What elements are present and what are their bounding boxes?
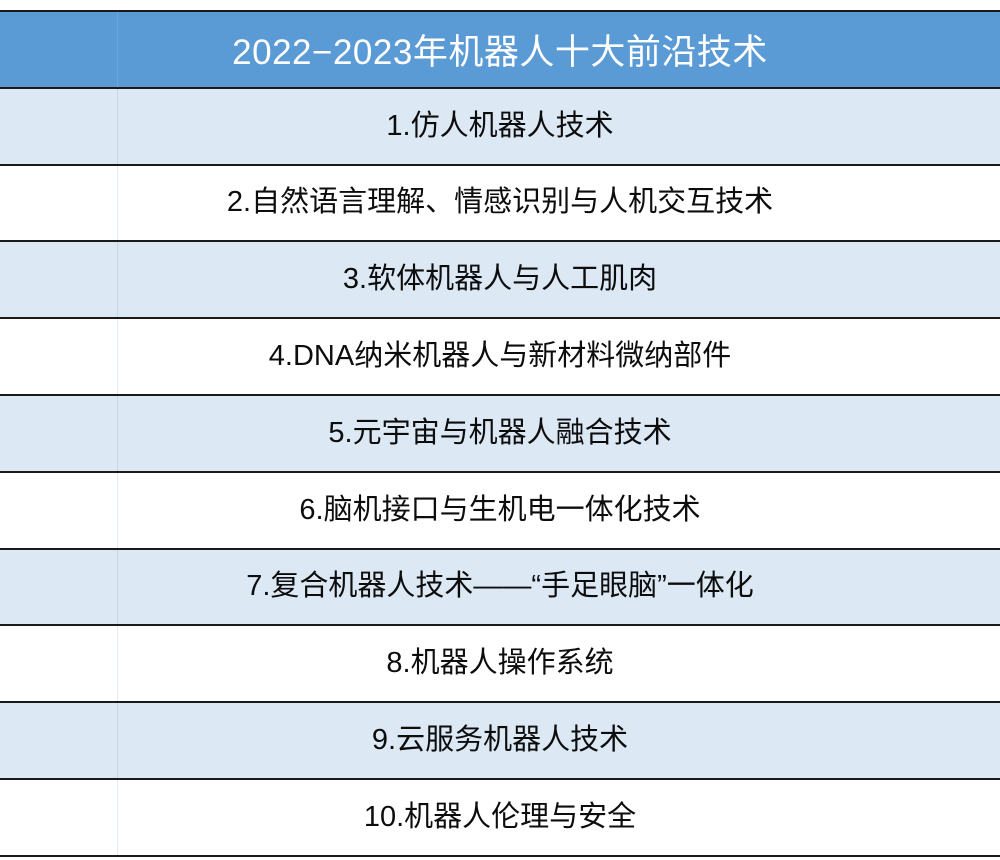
list-item-label: 5.元宇宙与机器人融合技术 bbox=[328, 417, 671, 450]
table-row[interactable]: 3.软体机器人与人工肌肉 bbox=[0, 241, 1000, 318]
table-row[interactable]: 8.机器人操作系统 bbox=[0, 625, 1000, 702]
list-item-label: 7.复合机器人技术——“手足眼脑”一体化 bbox=[246, 570, 754, 603]
table-cell-item-8[interactable]: 8.机器人操作系统 bbox=[0, 625, 1000, 702]
table-cell-item-3[interactable]: 3.软体机器人与人工肌肉 bbox=[0, 241, 1000, 318]
table-title-cell: 2022−2023年机器人十大前沿技术 bbox=[0, 11, 1000, 88]
table-row[interactable]: 7.复合机器人技术——“手足眼脑”一体化 bbox=[0, 549, 1000, 626]
page-title: 2022−2023年机器人十大前沿技术 bbox=[232, 24, 768, 75]
table-row[interactable]: 1.仿人机器人技术 bbox=[0, 88, 1000, 165]
list-item-label: 3.软体机器人与人工肌肉 bbox=[343, 263, 657, 296]
table-row[interactable]: 10.机器人伦理与安全 bbox=[0, 779, 1000, 856]
list-item-label: 10.机器人伦理与安全 bbox=[364, 801, 636, 834]
table-row[interactable]: 4.DNA纳米机器人与新材料微纳部件 bbox=[0, 318, 1000, 395]
top-ten-technologies-table-container: 2022−2023年机器人十大前沿技术 1.仿人机器人技术 2.自然语言理解、情… bbox=[0, 0, 1000, 860]
table-body: 2022−2023年机器人十大前沿技术 1.仿人机器人技术 2.自然语言理解、情… bbox=[0, 11, 1000, 856]
table-cell-item-5[interactable]: 5.元宇宙与机器人融合技术 bbox=[0, 395, 1000, 472]
list-item-label: 8.机器人操作系统 bbox=[386, 647, 613, 680]
table-header-row: 2022−2023年机器人十大前沿技术 bbox=[0, 11, 1000, 88]
table-cell-item-6[interactable]: 6.脑机接口与生机电一体化技术 bbox=[0, 472, 1000, 549]
table-cell-item-10[interactable]: 10.机器人伦理与安全 bbox=[0, 779, 1000, 856]
list-item-label: 2.自然语言理解、情感识别与人机交互技术 bbox=[227, 186, 773, 219]
table-row[interactable]: 9.云服务机器人技术 bbox=[0, 702, 1000, 779]
list-item-label: 4.DNA纳米机器人与新材料微纳部件 bbox=[269, 340, 731, 373]
table-cell-item-9[interactable]: 9.云服务机器人技术 bbox=[0, 702, 1000, 779]
table-row[interactable]: 2.自然语言理解、情感识别与人机交互技术 bbox=[0, 165, 1000, 242]
top-ten-technologies-table: 2022−2023年机器人十大前沿技术 1.仿人机器人技术 2.自然语言理解、情… bbox=[0, 10, 1000, 857]
list-item-label: 1.仿人机器人技术 bbox=[386, 110, 613, 143]
table-cell-item-7[interactable]: 7.复合机器人技术——“手足眼脑”一体化 bbox=[0, 549, 1000, 626]
list-item-label: 9.云服务机器人技术 bbox=[372, 724, 628, 757]
table-cell-item-2[interactable]: 2.自然语言理解、情感识别与人机交互技术 bbox=[0, 165, 1000, 242]
table-row[interactable]: 6.脑机接口与生机电一体化技术 bbox=[0, 472, 1000, 549]
table-row[interactable]: 5.元宇宙与机器人融合技术 bbox=[0, 395, 1000, 472]
list-item-label: 6.脑机接口与生机电一体化技术 bbox=[299, 494, 700, 527]
table-cell-item-4[interactable]: 4.DNA纳米机器人与新材料微纳部件 bbox=[0, 318, 1000, 395]
table-cell-item-1[interactable]: 1.仿人机器人技术 bbox=[0, 88, 1000, 165]
